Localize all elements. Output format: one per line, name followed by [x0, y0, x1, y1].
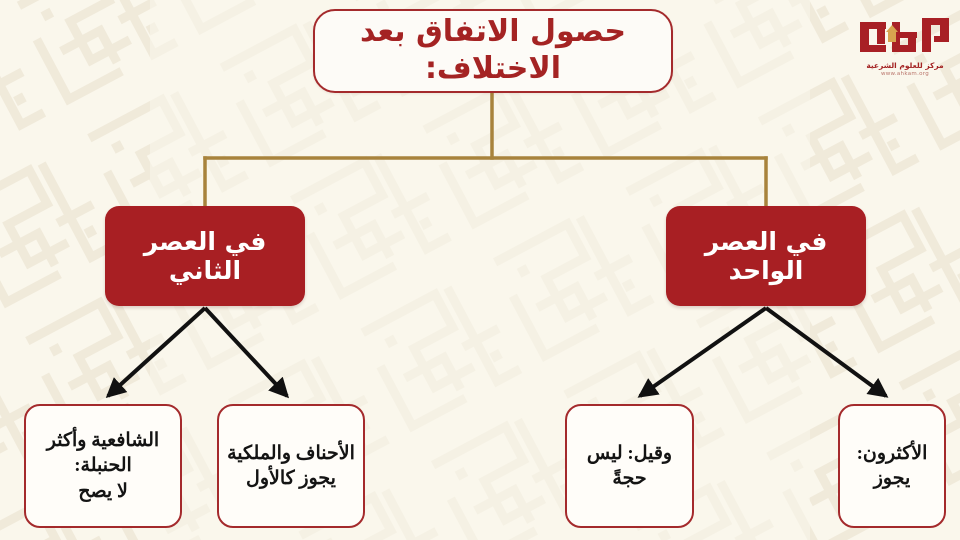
logo-subtitle: مركز للعلوم الشرعية — [856, 62, 954, 70]
diagram-canvas: حصول الاتفاق بعد الاختلاف: في العصر الثا… — [0, 0, 960, 540]
logo-url: www.ahkam.org — [856, 71, 954, 77]
branch-node-one-era[interactable]: في العصر الواحد — [666, 206, 866, 306]
branch-node-second-era[interactable]: في العصر الثاني — [105, 206, 305, 306]
leaf-node-shafii-hanbali[interactable]: الشافعية وأكثر الحنبلة: لا يصح — [24, 404, 182, 528]
leaf-node-not-proof[interactable]: وقيل: ليس حجةً — [565, 404, 694, 528]
leaf-node-majority[interactable]: الأكثرون: يجوز — [838, 404, 946, 528]
branch-label-one-era: في العصر الواحد — [666, 227, 866, 285]
leaf-label-shafii-hanbali: الشافعية وأكثر الحنبلة: لا يصح — [26, 428, 180, 503]
branch-label-second-era: في العصر الثاني — [105, 227, 305, 285]
page-title: حصول الاتفاق بعد الاختلاف: — [315, 14, 671, 87]
ahkam-kufic-logo-icon — [856, 14, 954, 60]
leaf-label-not-proof: وقيل: ليس حجةً — [579, 441, 680, 491]
diagram-title-node: حصول الاتفاق بعد الاختلاف: — [313, 9, 673, 93]
leaf-label-majority: الأكثرون: يجوز — [849, 441, 936, 491]
leaf-node-hanafi-maliki[interactable]: الأحناف والملكية يجوز كالأول — [217, 404, 365, 528]
brand-logo[interactable]: مركز للعلوم الشرعية www.ahkam.org — [856, 14, 954, 94]
leaf-label-hanafi-maliki: الأحناف والملكية يجوز كالأول — [219, 441, 363, 491]
